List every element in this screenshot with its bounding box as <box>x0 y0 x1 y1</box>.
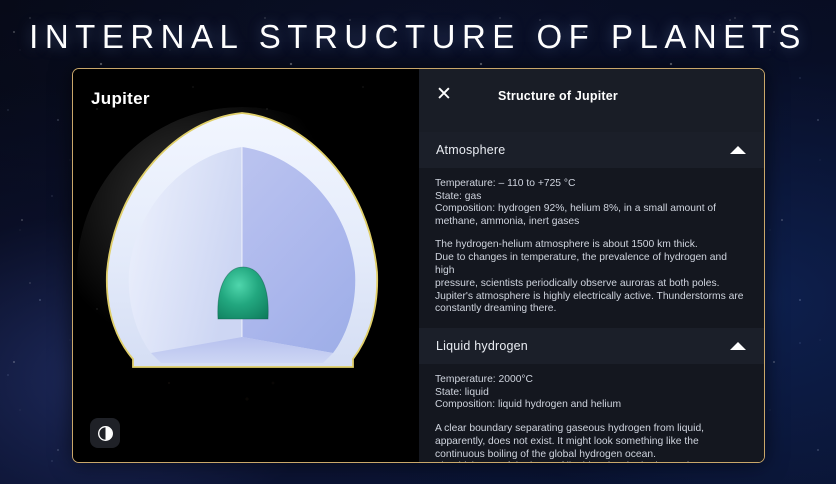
spec-line: Temperature: 2000°C <box>435 374 748 387</box>
contrast-toggle-button[interactable] <box>90 418 120 448</box>
section-body-liquid-hydrogen: Temperature: 2000°C State: liquid Compos… <box>419 364 764 462</box>
planet-illustration <box>77 107 407 437</box>
desc-line: The hydrogen-helium atmosphere is about … <box>435 239 748 252</box>
desc-line: The thickness of the layer of liquid mol… <box>435 461 748 462</box>
spec-line: methane, ammonia, inert gases <box>435 216 748 229</box>
planet-visual-panel: Jupiter <box>73 69 419 462</box>
structure-modal-card: Jupiter <box>72 68 765 463</box>
desc-line: A clear boundary separating gaseous hydr… <box>435 423 748 436</box>
desc-line: continuous boiling of the global hydroge… <box>435 449 748 462</box>
spec-line: Composition: hydrogen 92%, helium 8%, in… <box>435 203 748 216</box>
panel-header: ✕ Structure of Jupiter <box>419 69 764 132</box>
section-body-atmosphere: Temperature: – 110 to +725 °C State: gas… <box>419 168 764 328</box>
spec-line: State: liquid <box>435 387 748 400</box>
section-title-liquid-hydrogen: Liquid hydrogen <box>436 339 528 353</box>
page-title: INTERNAL STRUCTURE OF PLANETS <box>0 18 836 56</box>
section-specs-liquid-hydrogen: Temperature: 2000°C State: liquid Compos… <box>435 374 748 412</box>
desc-line: constantly dreaming there. <box>435 303 748 316</box>
caret-up-icon[interactable] <box>730 146 746 154</box>
section-specs-atmosphere: Temperature: – 110 to +725 °C State: gas… <box>435 178 748 228</box>
section-header-liquid-hydrogen[interactable]: Liquid hydrogen <box>419 328 764 364</box>
desc-line: apparently, does not exist. It might loo… <box>435 436 748 449</box>
planet-cutaway-wedge <box>77 107 407 437</box>
spec-line: State: gas <box>435 191 748 204</box>
section-description-atmosphere: The hydrogen-helium atmosphere is about … <box>435 239 748 316</box>
desc-line: Jupiter's atmosphere is highly electrica… <box>435 291 748 304</box>
desc-line: Due to changes in temperature, the preva… <box>435 252 748 278</box>
planet-name-label: Jupiter <box>91 89 150 109</box>
caret-up-icon[interactable] <box>730 342 746 350</box>
desc-line: pressure, scientists periodically observ… <box>435 278 748 291</box>
section-header-atmosphere[interactable]: Atmosphere <box>419 132 764 168</box>
spec-line: Composition: liquid hydrogen and helium <box>435 399 748 412</box>
section-description-liquid-hydrogen: A clear boundary separating gaseous hydr… <box>435 423 748 462</box>
section-title-atmosphere: Atmosphere <box>436 143 505 157</box>
structure-info-panel: ✕ Structure of Jupiter Atmosphere Temper… <box>419 69 764 462</box>
panel-title: Structure of Jupiter <box>498 89 618 103</box>
app-root: INTERNAL STRUCTURE OF PLANETS Jupiter <box>0 0 836 484</box>
contrast-half-circle-icon <box>97 425 114 442</box>
spec-line: Temperature: – 110 to +725 °C <box>435 178 748 191</box>
panel-body: Atmosphere Temperature: – 110 to +725 °C… <box>419 132 764 462</box>
close-icon[interactable]: ✕ <box>433 84 455 106</box>
